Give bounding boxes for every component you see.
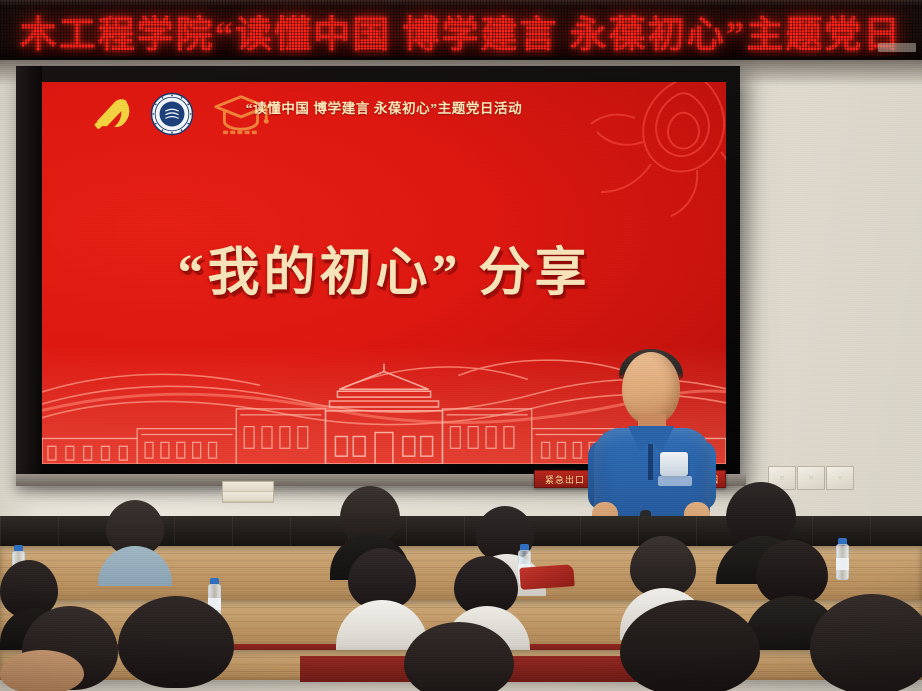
audience-shoulders [98, 546, 172, 586]
led-scrolling-banner: 木工程学院“读懂中国 博学建言 永葆初心”主题党日 [0, 0, 922, 60]
wall-control-panel[interactable] [222, 481, 274, 503]
audience-head [810, 594, 922, 691]
audience-member-11 [118, 596, 246, 691]
audience-shoulder-bare [0, 650, 84, 691]
slide-header-text: “读懂中国 博学建言 永葆初心”主题党日活动 [42, 97, 726, 117]
red-cloth-on-bench [519, 564, 574, 590]
audience-member-13 [620, 600, 770, 691]
audience-head [118, 596, 234, 688]
presenter-chest-logo-text [658, 476, 692, 486]
audience-member-12 [404, 622, 524, 691]
audience-head [404, 622, 514, 691]
led-corner-tag [878, 43, 916, 52]
led-banner-text: 木工程学院“读懂中国 博学建言 永葆初心”主题党日 [20, 4, 903, 58]
lecture-hall-photo: 木工程学院“读懂中国 博学建言 永葆初心”主题党日 [0, 0, 922, 691]
presenter-chest-logo-badge [660, 452, 688, 476]
slide-main-title: “我的初心” 分享 [42, 230, 726, 305]
audience-member-15 [0, 650, 90, 691]
audience-member-1 [98, 500, 172, 570]
audience-member-14 [810, 594, 922, 691]
outlet-socket-3[interactable]: ⁘ [826, 466, 854, 490]
presenter-placket [648, 444, 653, 480]
audience-head [620, 600, 760, 691]
